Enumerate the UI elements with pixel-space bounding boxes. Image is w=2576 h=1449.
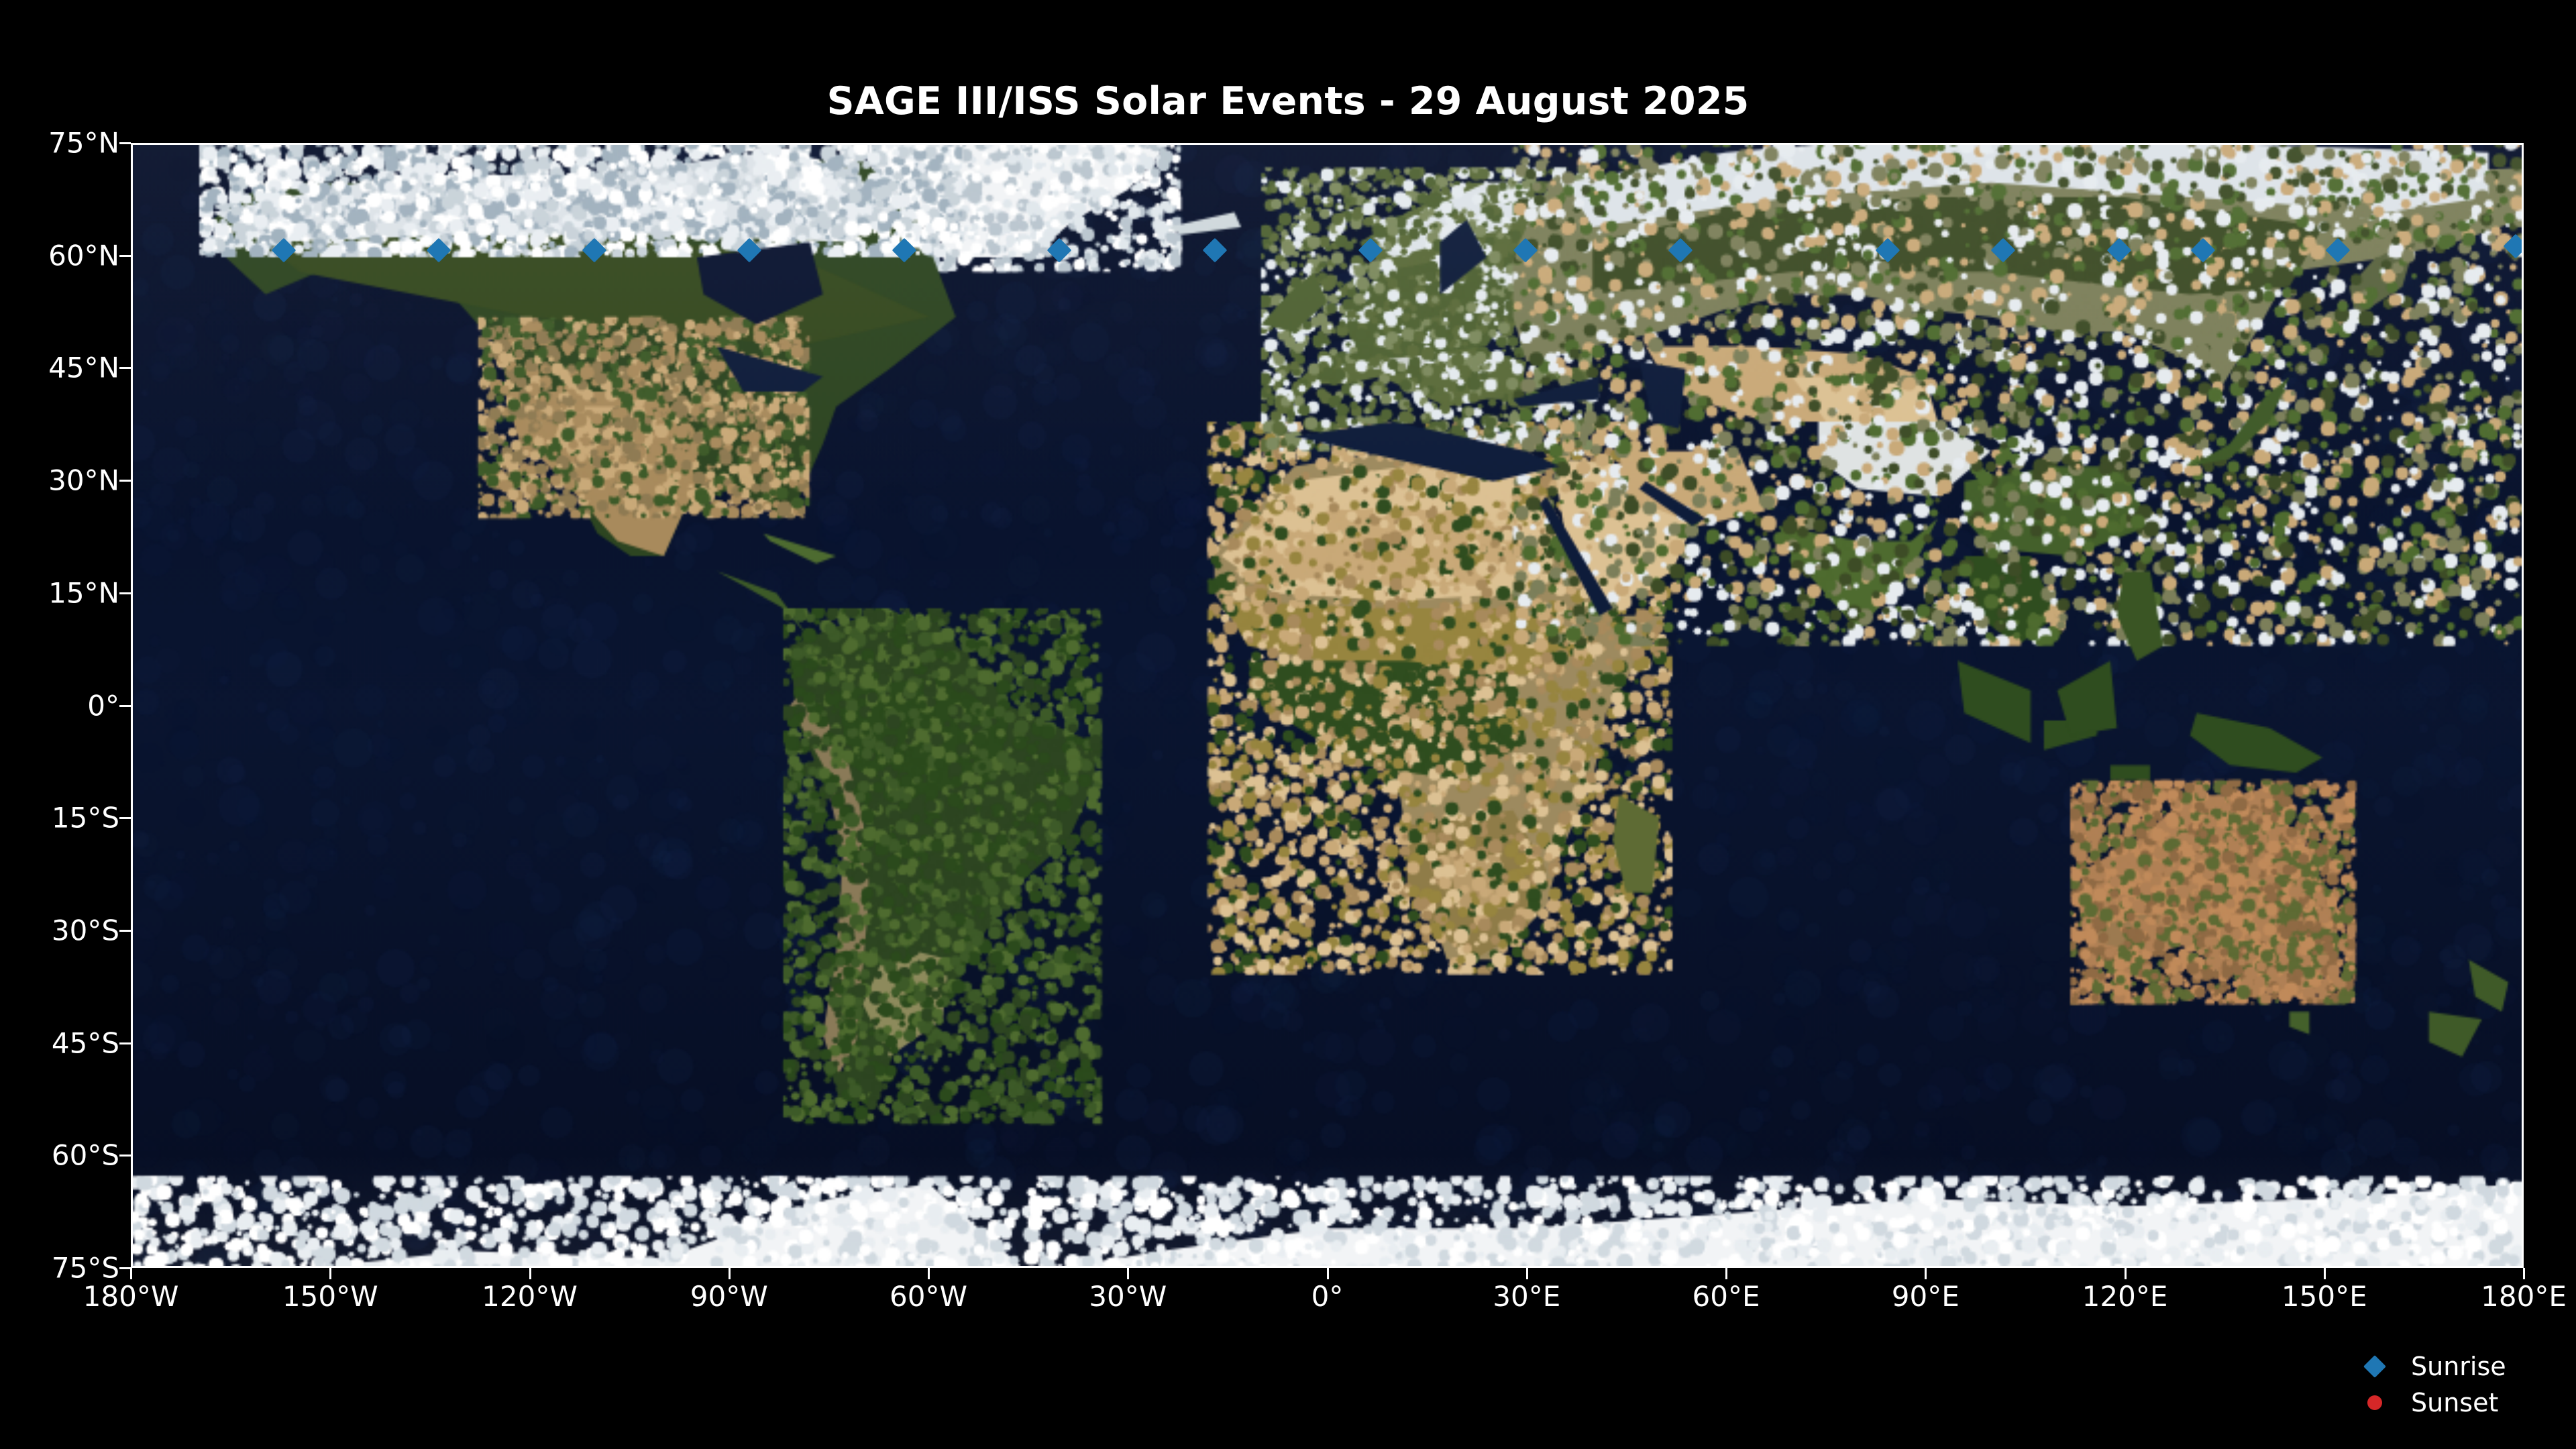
sunset-circle-icon [2367,1395,2382,1410]
y-axis-tick-label: 75°N [48,127,119,160]
legend-item-sunset[interactable]: Sunset [2355,1385,2556,1421]
y-axis-tick-mark [119,930,131,932]
y-axis-tick-mark [119,142,131,144]
x-axis-tick-label: 120°W [482,1280,578,1313]
x-axis-tick-label: 150°E [2282,1280,2367,1313]
x-axis-tick-mark [329,1268,331,1279]
legend: SunriseSunset [2355,1348,2556,1421]
y-axis-tick-mark [119,480,131,482]
x-axis-tick-mark [2125,1268,2127,1279]
x-axis-tick-label: 30°W [1089,1280,1167,1313]
legend-label: Sunset [2411,1388,2498,1417]
y-axis-tick-mark [119,705,131,707]
y-axis-tick-mark [119,1042,131,1044]
x-axis-tick-mark [130,1268,132,1279]
y-axis-tick-mark [119,1155,131,1157]
x-axis-tick-label: 30°E [1493,1280,1560,1313]
y-axis-tick-mark [119,1267,131,1269]
legend-swatch-box [2355,1395,2395,1410]
y-axis-tick-mark [119,817,131,819]
x-axis-tick-mark [529,1268,531,1279]
page-title: SAGE III/ISS Solar Events - 29 August 20… [0,79,2576,123]
x-axis-tick-mark [1925,1268,1927,1279]
x-axis-tick-mark [1526,1268,1528,1279]
y-axis-tick-label: 15°S [52,802,119,835]
legend-item-sunrise[interactable]: Sunrise [2355,1348,2556,1385]
legend-label: Sunrise [2411,1352,2506,1381]
y-axis-tick-label: 60°N [48,239,119,272]
y-axis-tick-mark [119,592,131,594]
y-axis-tick-label: 60°S [52,1139,119,1172]
sunrise-diamond-icon [2363,1355,2386,1378]
y-axis-tick-label: 45°N [48,352,119,384]
solar-events-map-figure: SAGE III/ISS Solar Events - 29 August 20… [0,0,2576,1449]
x-axis-tick-label: 180°E [2481,1280,2567,1313]
x-axis-tick-mark [2523,1268,2525,1279]
x-axis-tick-mark [928,1268,930,1279]
x-axis-tick-label: 90°E [1892,1280,1960,1313]
y-axis-tick-label: 30°S [52,914,119,947]
x-axis-tick-label: 180°W [83,1280,179,1313]
x-axis-tick-mark [729,1268,731,1279]
x-axis-tick-mark [2324,1268,2326,1279]
y-axis-tick-mark [119,255,131,257]
y-axis-tick-label: 45°S [52,1026,119,1059]
world-map-image [133,145,2522,1266]
x-axis-tick-label: 150°W [282,1280,378,1313]
x-axis-tick-label: 0° [1311,1280,1344,1313]
x-axis-tick-label: 60°E [1693,1280,1760,1313]
y-axis-tick-label: 30°N [48,464,119,497]
x-axis-tick-label: 60°W [890,1280,967,1313]
y-axis-tick-mark [119,367,131,369]
x-axis-tick-mark [1127,1268,1129,1279]
y-axis-tick-label: 15°N [48,576,119,609]
y-axis-tick-label: 0° [87,689,119,722]
x-axis-tick-label: 90°W [690,1280,768,1313]
legend-swatch-box [2355,1358,2395,1375]
x-axis-tick-mark [1327,1268,1329,1279]
x-axis-tick-mark [1725,1268,1727,1279]
map-plot-area[interactable] [131,143,2524,1268]
x-axis-tick-label: 120°E [2082,1280,2168,1313]
